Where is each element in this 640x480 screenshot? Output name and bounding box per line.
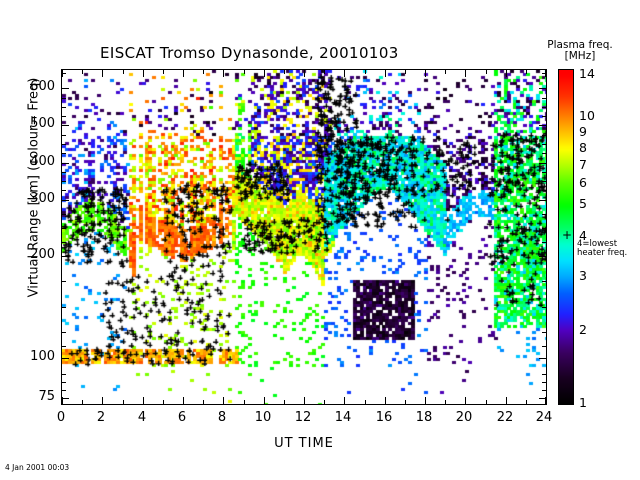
- plot-area[interactable]: [61, 69, 547, 405]
- colorbar-caption-line2: [MHz]: [520, 51, 640, 62]
- y-axis-minor-tick-right: [542, 153, 546, 154]
- x-axis-minor-tick-top: [284, 70, 285, 74]
- x-axis-minor-tick-top: [486, 70, 487, 74]
- x-axis-title: UT TIME: [61, 436, 547, 451]
- x-axis-tick-label: 24: [529, 411, 559, 424]
- y-axis-major-tick-right: [539, 200, 546, 201]
- x-axis-major-tick-top: [344, 70, 345, 77]
- y-axis-minor-tick: [62, 98, 66, 99]
- y-axis-major-tick: [62, 200, 69, 201]
- x-axis-major-tick: [143, 397, 144, 404]
- x-axis-minor-tick: [486, 400, 487, 404]
- y-axis-minor-tick: [62, 346, 66, 347]
- x-axis-minor-tick-top: [324, 70, 325, 74]
- x-axis-major-tick-top: [183, 70, 184, 77]
- y-axis-minor-tick: [62, 135, 66, 136]
- y-axis-minor-tick-right: [542, 214, 546, 215]
- footer-timestamp: 4 Jan 2001 00:03: [5, 463, 69, 472]
- ionogram-plot-page: EISCAT Tromso Dynasonde, 20010103 Plasma…: [0, 0, 640, 480]
- x-axis-minor-tick-top: [203, 70, 204, 74]
- y-axis-minor-tick: [62, 374, 66, 375]
- x-axis-tick-label: 6: [167, 411, 197, 424]
- colorbar-tick-label: 10: [579, 110, 609, 122]
- colorbar-tick-label: 5: [579, 198, 609, 210]
- x-axis-minor-tick: [163, 400, 164, 404]
- x-axis-major-tick: [62, 397, 63, 404]
- colorbar-note: 4=lowest heater freq.: [577, 240, 640, 258]
- x-axis-minor-tick: [365, 400, 366, 404]
- x-axis-major-tick-top: [425, 70, 426, 77]
- x-axis-minor-tick-top: [123, 70, 124, 74]
- y-axis-minor-tick: [62, 107, 66, 108]
- colorbar-tick-label: 14: [579, 68, 609, 80]
- y-axis-major-tick: [62, 163, 69, 164]
- x-axis-major-tick: [425, 397, 426, 404]
- x-axis-tick-label: 20: [449, 411, 479, 424]
- y-axis-minor-tick: [62, 190, 66, 191]
- y-axis-minor-tick: [62, 332, 66, 333]
- x-axis-minor-tick: [324, 400, 325, 404]
- x-axis-major-tick: [183, 397, 184, 404]
- x-axis-minor-tick-top: [445, 70, 446, 74]
- y-axis-major-tick: [62, 398, 69, 399]
- x-axis-tick-label: 10: [248, 411, 278, 424]
- y-axis-major-tick: [62, 358, 69, 359]
- data-scatter-canvas: [62, 70, 546, 404]
- x-axis-minor-tick: [244, 400, 245, 404]
- y-axis-major-tick: [62, 88, 69, 89]
- colorbar-caption: Plasma freq. [MHz]: [520, 40, 640, 62]
- x-axis-major-tick: [304, 397, 305, 404]
- x-axis-major-tick-top: [223, 70, 224, 77]
- y-axis-minor-tick-right: [542, 332, 546, 333]
- y-axis-minor-tick: [62, 214, 66, 215]
- y-axis-major-tick-right: [539, 163, 546, 164]
- colorbar-tick-label: 9: [579, 126, 609, 138]
- x-axis-minor-tick: [526, 400, 527, 404]
- y-axis-minor-tick-right: [542, 228, 546, 229]
- x-axis-major-tick-top: [62, 70, 63, 77]
- y-axis-minor-tick-right: [542, 135, 546, 136]
- colorbar-tick-label: 6: [579, 177, 609, 189]
- y-axis-minor-tick-right: [542, 172, 546, 173]
- colorbar-note-line2: heater freq.: [577, 249, 640, 258]
- x-axis-major-tick: [545, 397, 546, 404]
- x-axis-minor-tick: [82, 400, 83, 404]
- colorbar[interactable]: +: [558, 69, 574, 405]
- y-axis-minor-tick: [62, 181, 66, 182]
- x-axis-major-tick-top: [545, 70, 546, 77]
- y-axis-minor-tick: [62, 307, 66, 308]
- page-title: EISCAT Tromso Dynasonde, 20010103: [100, 44, 520, 62]
- x-axis-minor-tick-top: [526, 70, 527, 74]
- colorbar-tick-label: 8: [579, 142, 609, 154]
- x-axis-major-tick: [385, 397, 386, 404]
- y-axis-major-tick-right: [539, 88, 546, 89]
- x-axis-major-tick-top: [102, 70, 103, 77]
- colorbar-tick-label: 2: [579, 324, 609, 336]
- y-axis-minor-tick: [62, 228, 66, 229]
- x-axis-minor-tick-top: [163, 70, 164, 74]
- y-axis-major-tick: [62, 256, 69, 257]
- y-axis-minor-tick: [62, 172, 66, 173]
- heater-freq-marker-icon: +: [562, 231, 571, 240]
- y-axis-tick-label: 75: [21, 390, 55, 403]
- y-axis-minor-tick: [62, 242, 66, 243]
- x-axis-major-tick-top: [385, 70, 386, 77]
- y-axis-minor-tick-right: [542, 374, 546, 375]
- y-axis-minor-tick-right: [542, 346, 546, 347]
- y-axis-minor-tick: [62, 144, 66, 145]
- x-axis-major-tick-top: [506, 70, 507, 77]
- colorbar-tick-label: 7: [579, 159, 609, 171]
- x-axis-tick-label: 18: [409, 411, 439, 424]
- x-axis-major-tick-top: [304, 70, 305, 77]
- y-axis-minor-tick: [62, 281, 66, 282]
- x-axis-minor-tick-top: [82, 70, 83, 74]
- x-axis-minor-tick: [405, 400, 406, 404]
- x-axis-major-tick: [465, 397, 466, 404]
- y-axis-minor-tick-right: [542, 390, 546, 391]
- x-axis-minor-tick: [123, 400, 124, 404]
- y-axis-minor-tick-right: [542, 190, 546, 191]
- y-axis-minor-tick-right: [542, 116, 546, 117]
- x-axis-tick-label: 0: [46, 411, 76, 424]
- y-axis-minor-tick-right: [542, 107, 546, 108]
- y-axis-minor-tick-right: [542, 242, 546, 243]
- y-axis-major-tick-right: [539, 256, 546, 257]
- y-axis-minor-tick: [62, 382, 66, 383]
- x-axis-major-tick: [102, 397, 103, 404]
- x-axis-tick-label: 4: [127, 411, 157, 424]
- x-axis-tick-label: 12: [288, 411, 318, 424]
- y-axis-minor-tick: [62, 116, 66, 117]
- x-axis-tick-label: 14: [328, 411, 358, 424]
- x-axis-tick-label: 16: [369, 411, 399, 424]
- y-axis-minor-tick-right: [542, 144, 546, 145]
- x-axis-minor-tick-top: [405, 70, 406, 74]
- x-axis-major-tick-top: [465, 70, 466, 77]
- x-axis-major-tick: [506, 397, 507, 404]
- y-axis-minor-tick-right: [542, 98, 546, 99]
- y-axis-major-tick-right: [539, 125, 546, 126]
- y-axis-minor-tick: [62, 153, 66, 154]
- y-axis-tick-label: 100: [21, 350, 55, 363]
- x-axis-tick-label: 2: [86, 411, 116, 424]
- x-axis-minor-tick: [203, 400, 204, 404]
- y-axis-minor-tick-right: [542, 307, 546, 308]
- y-axis-minor-tick: [62, 390, 66, 391]
- y-axis-minor-tick-right: [542, 181, 546, 182]
- x-axis-tick-label: 22: [490, 411, 520, 424]
- y-axis-title: Virtual Range [km] (colour= Freq): [27, 58, 42, 318]
- x-axis-major-tick-top: [264, 70, 265, 77]
- y-axis-minor-tick-right: [542, 281, 546, 282]
- x-axis-minor-tick: [445, 400, 446, 404]
- x-axis-minor-tick-top: [244, 70, 245, 74]
- x-axis-minor-tick-top: [365, 70, 366, 74]
- x-axis-major-tick: [344, 397, 345, 404]
- x-axis-tick-label: 8: [207, 411, 237, 424]
- x-axis-major-tick: [264, 397, 265, 404]
- x-axis-minor-tick: [284, 400, 285, 404]
- colorbar-tick-label: 3: [579, 270, 609, 282]
- colorbar-tick-label: 1: [579, 397, 609, 409]
- y-axis-major-tick: [62, 125, 69, 126]
- x-axis-major-tick-top: [143, 70, 144, 77]
- y-axis-minor-tick-right: [542, 382, 546, 383]
- y-axis-major-tick-right: [539, 358, 546, 359]
- x-axis-major-tick: [223, 397, 224, 404]
